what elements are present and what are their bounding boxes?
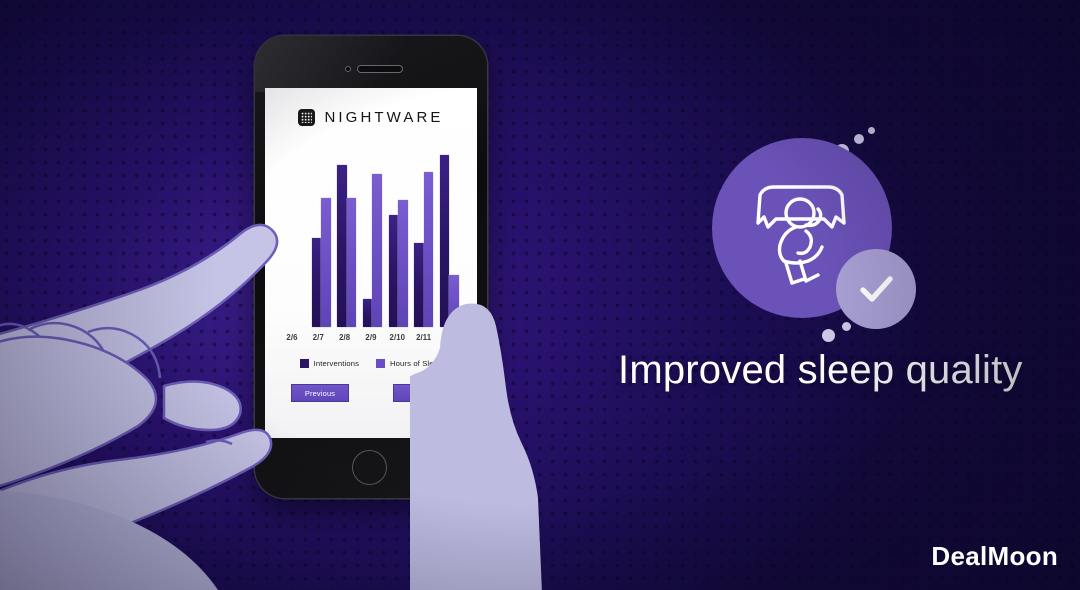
bar-dark [337,165,347,327]
decorative-dot [842,322,851,331]
bar-light [347,198,357,327]
bar-group [337,165,356,327]
headline-text: Improved sleep quality [618,348,1023,393]
camera-dot-icon [345,66,351,72]
chart-x-axis-labels: 2/62/72/82/92/102/112/12 [281,333,461,342]
decorative-dot [854,134,864,144]
legend-label: Interventions [314,359,359,368]
bar-dark [389,215,399,327]
x-axis-label: 2/7 [307,333,329,342]
previous-button[interactable]: Previous [291,384,349,402]
x-axis-label: 2/12 [439,333,461,342]
bar-light [321,198,331,327]
legend-item: Interventions [300,359,359,368]
x-axis-label: 2/8 [334,333,356,342]
speaker-grille-icon [357,65,403,73]
app-header: NIGHTWARE [265,88,477,126]
legend-swatch [376,359,385,368]
legend-label: Hours of Sleep [390,359,442,368]
bar-group [414,172,433,327]
decorative-dot [822,329,835,342]
legend-swatch [300,359,309,368]
chart-legend: InterventionsHours of Sleep [265,359,477,368]
legend-item: Hours of Sleep [376,359,442,368]
dealmoon-watermark: DealMoon [931,541,1058,572]
bar-dark [363,299,373,327]
x-axis-label: 2/6 [281,333,303,342]
dot-grid-pattern [0,0,1080,590]
brand-name: NIGHTWARE [324,109,443,126]
bar-dark [312,238,322,327]
x-axis-label: 2/10 [386,333,408,342]
home-button-icon[interactable] [352,450,387,485]
bar-group [312,198,331,327]
bar-dark [414,243,424,327]
bar-group [440,155,459,327]
decorative-dot [868,127,875,134]
bar-light [424,172,434,327]
bar-light [372,174,382,327]
phone-screen: NIGHTWARE 2/62/72/82/92/102/112/12 Inter… [265,88,477,438]
check-badge [836,249,916,329]
scene-background: Improved sleep quality NIGHTWARE 2/62/72… [0,0,1080,590]
sleep-chart [265,147,477,327]
bar-dark [440,155,450,327]
bar-group [389,200,408,327]
bar-group [363,174,382,327]
nightware-logo-icon [298,109,315,126]
x-axis-label: 2/9 [360,333,382,342]
check-mark-icon [853,266,899,312]
x-axis-label: 2/11 [413,333,435,342]
chart-navigation: Previous Next [265,384,477,402]
bar-light [398,200,408,327]
bar-light [449,275,459,327]
phone-screen-glare [255,36,487,92]
scene-vignette [0,0,1080,590]
next-button[interactable]: Next [393,384,451,402]
chart-bars [286,155,459,327]
